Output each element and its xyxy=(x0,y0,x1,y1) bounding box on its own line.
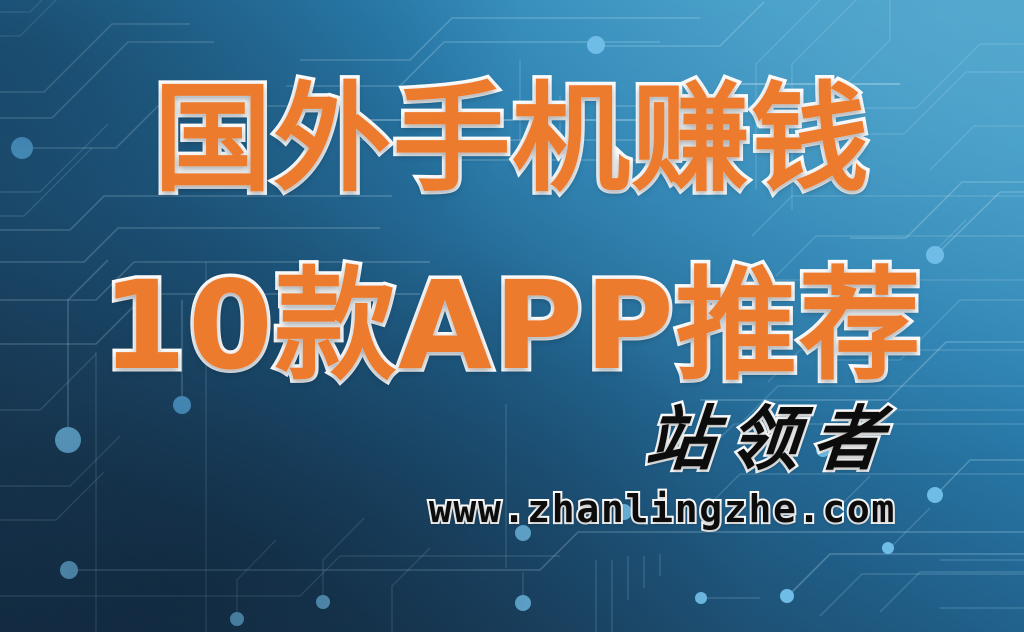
headline-line-1: 国外手机赚钱 xyxy=(154,70,871,208)
banner-canvas: .tr { fill:none; stroke:rgba(182,218,240… xyxy=(0,0,1024,632)
headline-line-2-container: 10款APP推荐 xyxy=(0,256,1024,396)
headline-line-1-container: 国外手机赚钱 xyxy=(0,72,1024,208)
brand-watermark: 站领者 www.zhanlingzhe.com xyxy=(0,404,1024,528)
brand-name: 站领者 xyxy=(643,404,899,474)
brand-url: www.zhanlingzhe.com xyxy=(0,490,896,528)
headline-line-2: 10款APP推荐 xyxy=(102,255,923,397)
